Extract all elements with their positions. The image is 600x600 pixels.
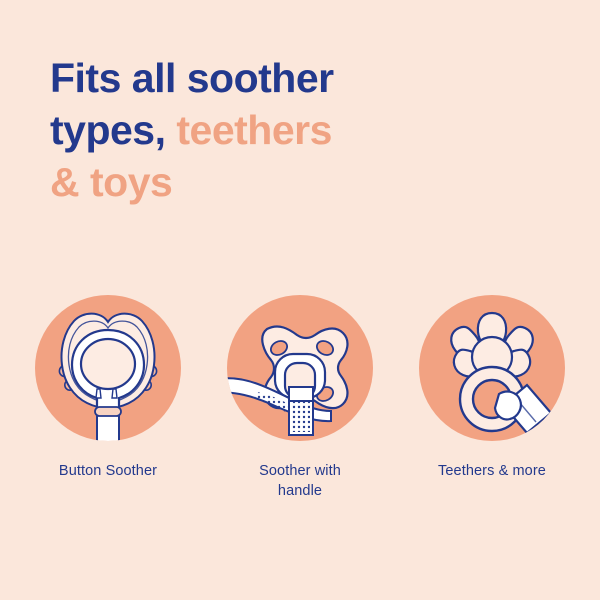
strap-button [95,407,121,416]
teether-toy-icon [419,295,565,441]
card-label-soother-with-handle: Soother with handle [204,461,396,501]
card-label-line-2: handle [278,483,322,499]
card-label-button-soother: Button Soother [12,461,204,481]
headline-line-2-peach-text: teethers [176,107,332,153]
clip-head [495,392,521,420]
headline-line-1-text: Fits all soother [50,55,334,101]
card-teethers-and-more[interactable]: Teethers & more [396,295,588,481]
headline-line-3-text: & toys [50,159,172,205]
button-soother-icon [35,295,181,441]
card-label-line-1: Soother with [259,463,341,479]
headline-line-2-blue-text: types, [50,107,176,153]
card-button-soother[interactable]: Button Soother [12,295,204,481]
headline-line-1: Fits all soother [50,52,550,104]
page-title: Fits all soother types, teethers & toys [50,52,550,208]
product-type-list: Button Soother [0,295,600,535]
headline-line-3: & toys [50,156,550,208]
soother-with-handle-icon [227,295,373,441]
promo-page: Fits all soother types, teethers & toys [0,0,600,600]
card-label-teethers-and-more: Teethers & more [396,461,588,481]
headline-line-2: types, teethers [50,104,550,156]
card-soother-with-handle[interactable]: Soother with handle [204,295,396,501]
